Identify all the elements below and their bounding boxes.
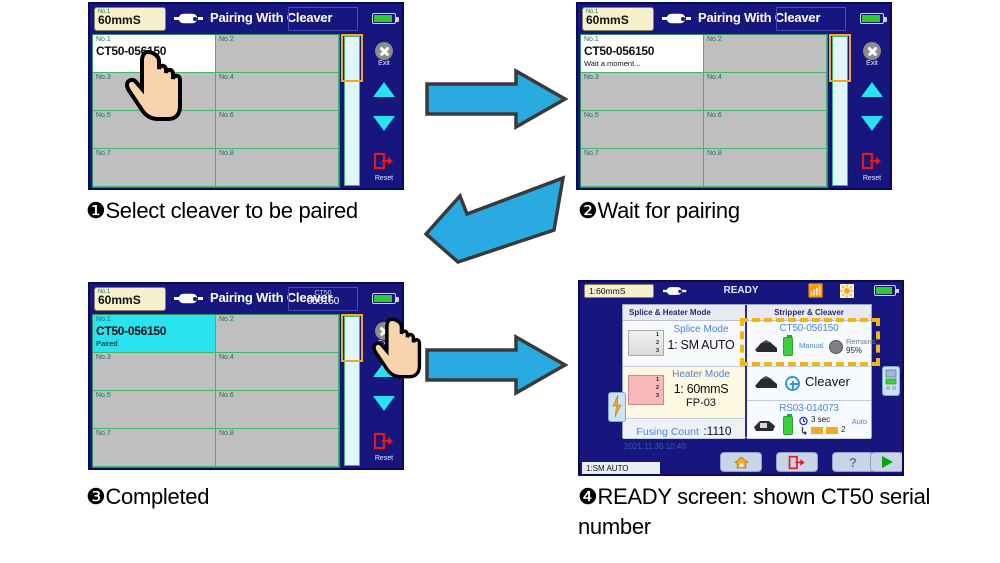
scroll-up-button[interactable] (364, 82, 404, 97)
step-text: Completed (105, 484, 209, 509)
thumb-num-1: 1 (656, 333, 659, 339)
battery-detail-icon (883, 367, 899, 395)
scrollbar-thumb-highlight[interactable] (341, 314, 363, 362)
arc-calibration-tab[interactable] (608, 392, 626, 422)
caption-step-4: ❹READY screen: shown CT50 serial number (578, 482, 978, 541)
help-button[interactable]: ? (832, 452, 874, 472)
ready-info-panel: Splice & Heater Mode 1 2 3 Splice Mode 1… (622, 304, 872, 438)
cleaver-cell-5[interactable]: No.5 (93, 391, 216, 429)
stripper-serial: RS03-014073 (747, 401, 871, 414)
cleaver-cell-4[interactable]: No.4 (216, 353, 339, 391)
cleaver-cell-2[interactable]: No.2 (216, 315, 339, 353)
step-text: READY screen: shown CT50 serial number (578, 484, 930, 539)
cleaver-cell-6[interactable]: No.6 (704, 111, 827, 149)
stripper-level-bar-2 (826, 427, 838, 434)
cell-number: No.1 (96, 316, 111, 323)
ready-main: Splice & Heater Mode 1 2 3 Splice Mode 1… (580, 300, 902, 476)
timer-icon (799, 416, 808, 425)
caption-step-2: ❷Wait for pairing (578, 196, 918, 226)
cell-number: No.4 (219, 354, 234, 361)
reset-button[interactable]: Reset (364, 432, 404, 462)
sleeve-icon (662, 11, 692, 26)
close-icon (375, 42, 393, 60)
diagram-root: No.1 60mmS Pairing With Cleaver .... No.… (0, 0, 1000, 563)
cell-number: No.2 (219, 36, 234, 43)
panel2-header: No.1 60mmS Pairing With Cleaver .... (578, 4, 890, 34)
heater-mode-chip[interactable]: No.1 60mmS (94, 7, 166, 31)
cell-name: CT50-056150 (584, 44, 654, 58)
reset-button[interactable]: Reset (364, 152, 404, 182)
cell-number: No.3 (96, 354, 111, 361)
triangle-down-icon (373, 396, 395, 411)
cell-number: No.6 (707, 112, 722, 119)
stripper-cleaver-section-title: Stripper & Cleaver (747, 305, 871, 321)
thumb-num-1: 1 (656, 378, 659, 384)
cell-number: No.8 (219, 150, 234, 157)
exit-icon (373, 432, 395, 450)
timestamp: 2021.11.30 10:40 (624, 442, 686, 451)
arrow-step1-to-step2 (424, 68, 569, 130)
cell-number: No.5 (96, 112, 111, 119)
panel1-serial-box: .... (288, 7, 358, 31)
battery-status-tab[interactable] (882, 366, 900, 396)
cleaver-cell-7[interactable]: No.7 (93, 429, 216, 467)
panel3-serial-box: CT50 056150 (288, 287, 358, 311)
cleaver-cell-8[interactable]: No.8 (216, 149, 339, 187)
battery-icon (372, 293, 396, 304)
stripper-level-bar-1 (811, 427, 823, 434)
hand-pointer-icon (120, 44, 190, 134)
hand-pointer-icon (368, 312, 428, 390)
heater-mode-chip[interactable]: No.1 60mmS (94, 287, 166, 311)
cleaver-cell-5[interactable]: No.5 (581, 111, 704, 149)
home-button[interactable] (720, 452, 762, 472)
splice-mode-block[interactable]: 1 2 3 Splice Mode 1: SM AUTO (623, 321, 745, 367)
thumb-num-2: 2 (656, 341, 659, 347)
panel3-body: No.1 CT50-056150 Paired No.2 No.3 No.4 (90, 314, 402, 470)
triangle-up-icon (861, 82, 883, 97)
panel-2-pairing-wait: No.1 60mmS Pairing With Cleaver .... No.… (576, 2, 892, 190)
splice-heater-column: Splice & Heater Mode 1 2 3 Splice Mode 1… (623, 305, 747, 437)
panel1-header: No.1 60mmS Pairing With Cleaver .... (90, 4, 402, 34)
exit-icon (787, 455, 807, 470)
paired-cleaver-serial: CT50-056150 (747, 321, 871, 334)
reset-button[interactable]: Reset (852, 152, 892, 182)
cleaver-knob-icon (829, 340, 843, 354)
sleeve-icon (174, 291, 204, 306)
cleaver-cell-7[interactable]: No.7 (93, 149, 216, 187)
heat-icon (799, 426, 808, 435)
question-mark-icon: ? (849, 455, 857, 470)
cleaver-list-grid: No.1 CT50-056150 Paired No.2 No.3 No.4 (92, 314, 340, 468)
reset-label: Reset (364, 455, 404, 462)
cleaver-tool-icon (753, 375, 779, 391)
scroll-up-button[interactable] (852, 82, 892, 97)
cleaver-cell-8[interactable]: No.8 (216, 429, 339, 467)
cleaver-cell-4[interactable]: No.4 (216, 73, 339, 111)
sleeve-icon (174, 11, 204, 26)
exit-label: Exit (364, 60, 404, 67)
caption-step-1: ❶Select cleaver to be paired (86, 196, 426, 226)
reset-label: Reset (364, 175, 404, 182)
reset-label: Reset (852, 175, 892, 182)
scrollbar-thumb-highlight[interactable] (341, 34, 363, 82)
cell-number: No.7 (584, 150, 599, 157)
caption-step-3: ❸Completed (86, 482, 426, 512)
panel1-body: No.1 CT50-056150 No.2 No.3 No.4 (90, 34, 402, 190)
exit-button[interactable]: Exit (364, 42, 404, 67)
stripper-battery-icon (783, 416, 793, 435)
bluetooth-icon: 📶 (808, 284, 824, 298)
stripper-time-value: 3 sec (811, 415, 830, 424)
cell-number: No.7 (96, 150, 111, 157)
battery-icon (860, 13, 884, 24)
cell-status: Paired (96, 339, 118, 348)
exit-icon (373, 152, 395, 170)
cleaver-cell-2[interactable]: No.2 (216, 35, 339, 73)
mode-chip-value: 60mmS (98, 14, 162, 26)
cleaver-cell-3[interactable]: No.3 (581, 73, 704, 111)
cell-number: No.2 (219, 316, 234, 323)
cleaver-cell-6[interactable]: No.6 (216, 391, 339, 429)
panel2-body: No.1 CT50-056150 Wait a moment... No.2 N… (578, 34, 890, 190)
cell-number: No.5 (584, 112, 599, 119)
cleaver-cell-6[interactable]: No.6 (216, 111, 339, 149)
cell-status: Wait a moment... (584, 59, 640, 68)
triangle-up-icon (373, 82, 395, 97)
serial-number: 056150 (307, 297, 339, 308)
panel2-sidebar: Exit Reset (852, 34, 892, 188)
step-text: Select cleaver to be paired (105, 198, 357, 223)
cell-number: No.6 (219, 392, 234, 399)
mode-chip-value: 60mmS (98, 294, 162, 306)
cleaver-list-grid: No.1 CT50-056150 Wait a moment... No.2 N… (580, 34, 828, 188)
brightness-icon (840, 284, 854, 298)
scroll-down-button[interactable] (852, 116, 892, 131)
ready-button-bar: ? (580, 452, 902, 474)
triangle-down-icon (861, 116, 883, 131)
lightning-icon (609, 393, 625, 421)
exit-button[interactable] (776, 452, 818, 472)
add-cleaver-row[interactable]: Cleaver (747, 367, 871, 401)
triangle-down-icon (373, 116, 395, 131)
panel3-header: No.1 60mmS Pairing With Cleaver CT50 056… (90, 284, 402, 314)
cell-number: No.1 (96, 36, 111, 43)
mode-chip-value: 60mmS (586, 14, 650, 26)
panel1-sidebar: Exit Reset (364, 34, 404, 188)
heater-mode-chip[interactable]: No.1 60mmS (582, 7, 654, 31)
thumb-num-2: 2 (656, 386, 659, 392)
cleaver-mode-label: Manual (799, 341, 824, 350)
ready-status-bar: 1:60mmS READY 📶 (580, 282, 902, 300)
splice-heater-section-title: Splice & Heater Mode (623, 305, 745, 321)
cell-number: No.2 (707, 36, 722, 43)
cleaver-cell-8[interactable]: No.8 (704, 149, 827, 187)
step-number: ❸ (86, 484, 105, 509)
step-text: Wait for pairing (597, 198, 739, 223)
cleaver-cell-1[interactable]: No.1 CT50-056150 Wait a moment... (581, 35, 704, 73)
cell-number: No.8 (707, 150, 722, 157)
add-cleaver-label: Cleaver (805, 374, 850, 389)
cleaver-cell-1[interactable]: No.1 CT50-056150 Paired (93, 315, 216, 353)
cell-number: No.6 (219, 112, 234, 119)
cleaver-cell-3[interactable]: No.3 (93, 353, 216, 391)
cell-number: No.4 (707, 74, 722, 81)
thumb-num-3: 3 (656, 349, 659, 355)
panel2-serial-box: .... (776, 7, 846, 31)
thumb-num-3: 3 (656, 394, 659, 400)
cell-number: No.3 (584, 74, 599, 81)
battery-icon (372, 13, 396, 24)
panel-3-pairing-complete: No.1 60mmS Pairing With Cleaver CT50 056… (88, 282, 404, 470)
cleaver-tool-icon (753, 339, 779, 355)
fusing-count-block: Fusing Count :1110 (623, 419, 745, 439)
cell-number: No.4 (219, 74, 234, 81)
arrow-step3-to-step4 (424, 334, 569, 396)
cleaver-battery-icon (783, 337, 793, 356)
cleaver-remains-label: Remains (846, 337, 876, 346)
start-button[interactable] (870, 452, 904, 472)
exit-button[interactable]: Exit (852, 42, 892, 67)
stripper-row[interactable]: RS03-014073 3 sec (747, 401, 871, 439)
cell-number: No.5 (96, 392, 111, 399)
panel-1-pairing-select: No.1 60mmS Pairing With Cleaver .... No.… (88, 2, 404, 190)
cleaver-remains-value: 95% (846, 346, 862, 355)
cleaver-cell-2[interactable]: No.2 (704, 35, 827, 73)
battery-icon (874, 285, 896, 296)
play-icon (880, 455, 894, 469)
cell-number: No.7 (96, 430, 111, 437)
cell-number: No.1 (584, 36, 599, 43)
exit-icon (861, 152, 883, 170)
home-icon (734, 456, 749, 469)
fusing-count-label: Fusing Count (636, 426, 698, 438)
step-number: ❶ (86, 198, 105, 223)
cleaver-cell-7[interactable]: No.7 (581, 149, 704, 187)
stripper-cleaver-column: Stripper & Cleaver CT50-056150 Manual Re… (747, 305, 871, 437)
panel-4-ready-screen: 1:60mmS READY 📶 Splic (578, 280, 904, 476)
stripper-tool-icon (753, 418, 779, 434)
arrow-step2-to-step3 (422, 174, 572, 264)
panel1-serial-placeholder: .... (315, 13, 331, 25)
cell-number: No.3 (96, 74, 111, 81)
cell-number: No.8 (219, 430, 234, 437)
heater-mode-block[interactable]: 1 2 3 Heater Mode 1: 60mmS FP-03 (623, 367, 745, 419)
close-icon (863, 42, 881, 60)
fusing-count-value: :1110 (703, 424, 731, 438)
stripper-auto-label: Auto (852, 417, 867, 426)
scrollbar-thumb-highlight[interactable] (829, 34, 851, 82)
stripper-level-value: 2 (841, 425, 845, 434)
panel2-serial-placeholder: .... (803, 13, 819, 25)
add-icon (785, 376, 800, 391)
exit-label: Exit (852, 60, 892, 67)
paired-cleaver-row[interactable]: CT50-056150 Manual Remains 95% (747, 321, 871, 367)
cleaver-cell-4[interactable]: No.4 (704, 73, 827, 111)
scroll-down-button[interactable] (364, 116, 404, 131)
scroll-down-button[interactable] (364, 396, 404, 411)
cell-name: CT50-056150 (96, 324, 166, 338)
step-number: ❷ (578, 198, 597, 223)
step-number: ❹ (578, 484, 597, 509)
